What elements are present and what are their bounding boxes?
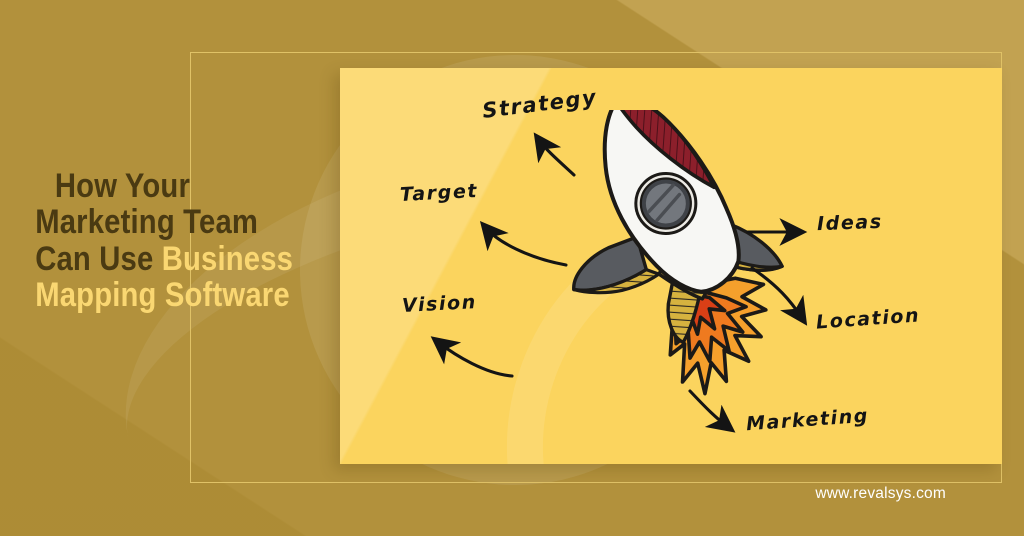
title-line-1: How Your: [35, 168, 190, 204]
rocket-svg: [500, 110, 820, 400]
background-wedge-bottom-left: [0, 276, 360, 536]
title-segment-highlight: Mapping Software: [35, 276, 290, 314]
title-line-4: Mapping Software: [35, 277, 190, 313]
label-vision: Vision: [401, 291, 477, 317]
title-line-2: Marketing Team: [35, 204, 190, 240]
marketing-banner: How Your Marketing Team Can Use Business…: [0, 0, 1024, 536]
title-segment: How Your: [55, 167, 190, 205]
page-title: How Your Marketing Team Can Use Business…: [35, 168, 190, 314]
title-segment: Marketing Team: [35, 203, 258, 241]
label-ideas: Ideas: [817, 211, 883, 235]
rocket-illustration: [500, 110, 820, 400]
title-line-3: Can Use Business: [35, 241, 190, 277]
title-segment: Can Use: [35, 240, 162, 278]
website-url[interactable]: www.revalsys.com: [815, 485, 946, 503]
label-target: Target: [399, 180, 478, 206]
title-segment-highlight: Business: [162, 240, 293, 278]
